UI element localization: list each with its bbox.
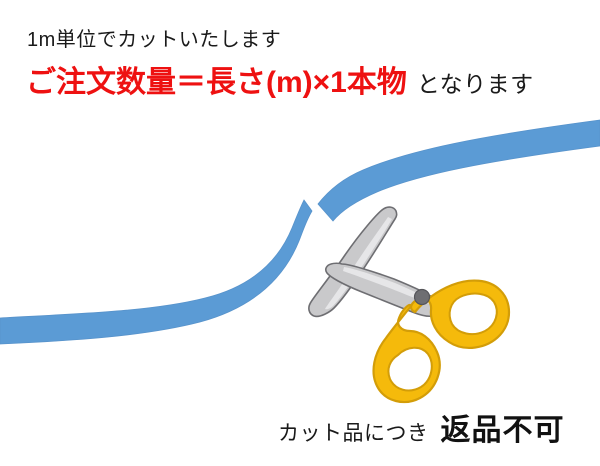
cut-unit-notice: 1m単位でカットいたします xyxy=(27,30,281,50)
scissors-pivot-icon xyxy=(415,290,430,305)
scissors xyxy=(309,207,509,402)
no-return-prefix: カット品につき xyxy=(278,422,429,445)
blue-cable-lower-segment xyxy=(0,200,312,344)
order-quantity-formula: ご注文数量＝長さ(m)×1本物 xyxy=(26,66,407,99)
order-quantity-notice: ご注文数量＝長さ(m)×1本物となります xyxy=(26,68,534,98)
scissors-handle-lower xyxy=(374,305,440,402)
order-quantity-suffix: となります xyxy=(407,71,534,97)
blue-cable-upper-segment xyxy=(318,120,600,221)
no-return-emphasis: 返品不可 xyxy=(429,414,565,447)
slide-canvas: 1m単位でカットいたします ご注文数量＝長さ(m)×1本物となります カット品に… xyxy=(0,0,600,466)
no-return-notice: カット品につき返品不可 xyxy=(278,416,565,446)
